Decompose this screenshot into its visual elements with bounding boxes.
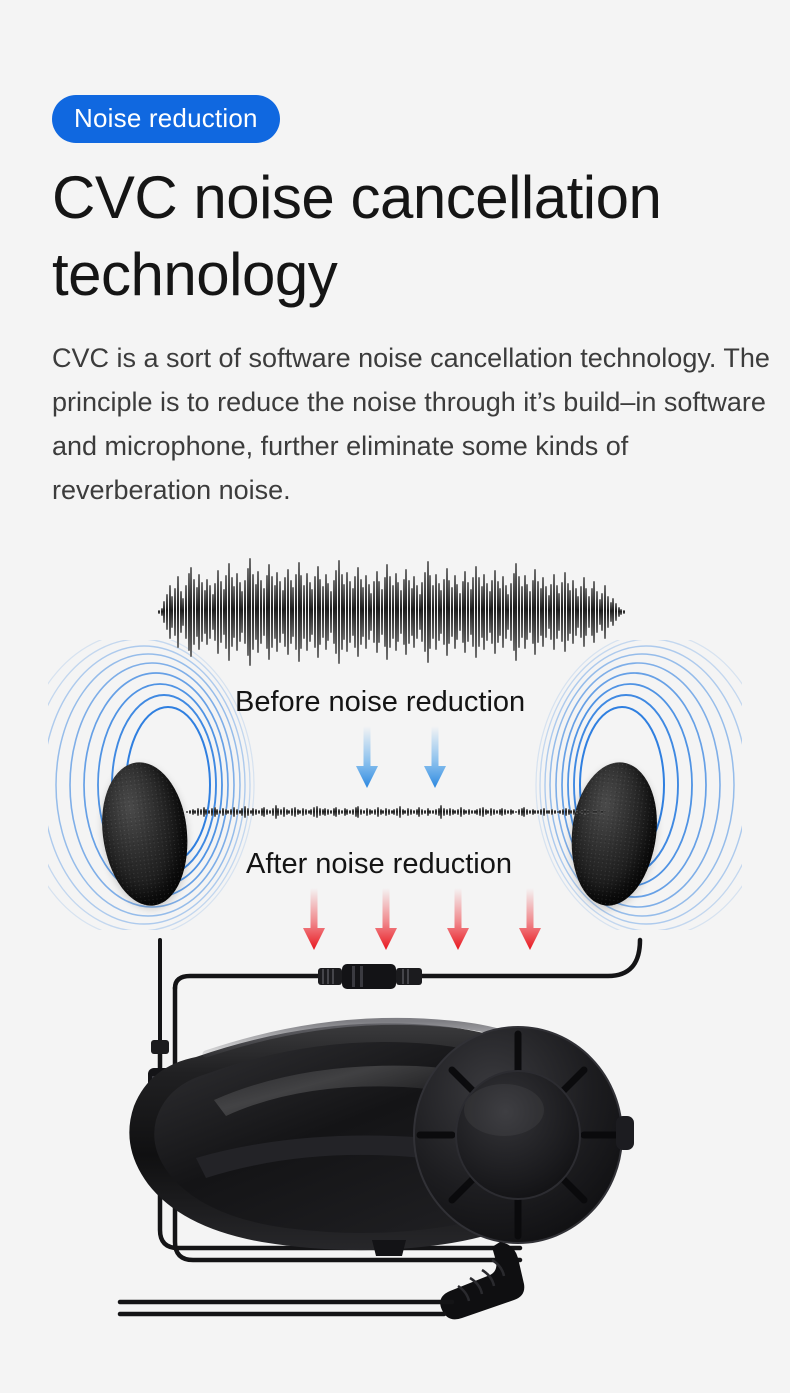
cable-connector xyxy=(318,964,422,989)
section-badge: Noise reduction xyxy=(52,95,280,143)
product-feature-page: Noise reduction CVC noise cancellation t… xyxy=(0,0,790,1393)
intercom-device: Q2 BLUETOOTH INTERCOM EJEAS − + xyxy=(0,930,790,1350)
body-description: CVC is a sort of software noise cancella… xyxy=(52,336,782,512)
waveform-before xyxy=(158,558,626,666)
page-title: CVC noise cancellation technology xyxy=(52,160,742,314)
label-after-noise-reduction: After noise reduction xyxy=(246,850,512,879)
arrow-down-blue-icon xyxy=(353,726,381,788)
blue-arrows-group xyxy=(353,726,449,788)
cable-boot xyxy=(440,1242,524,1319)
label-before-noise-reduction: Before noise reduction xyxy=(235,688,525,717)
side-button xyxy=(616,1116,634,1150)
arrow-down-blue-icon xyxy=(421,726,449,788)
waveform-after xyxy=(186,788,606,836)
